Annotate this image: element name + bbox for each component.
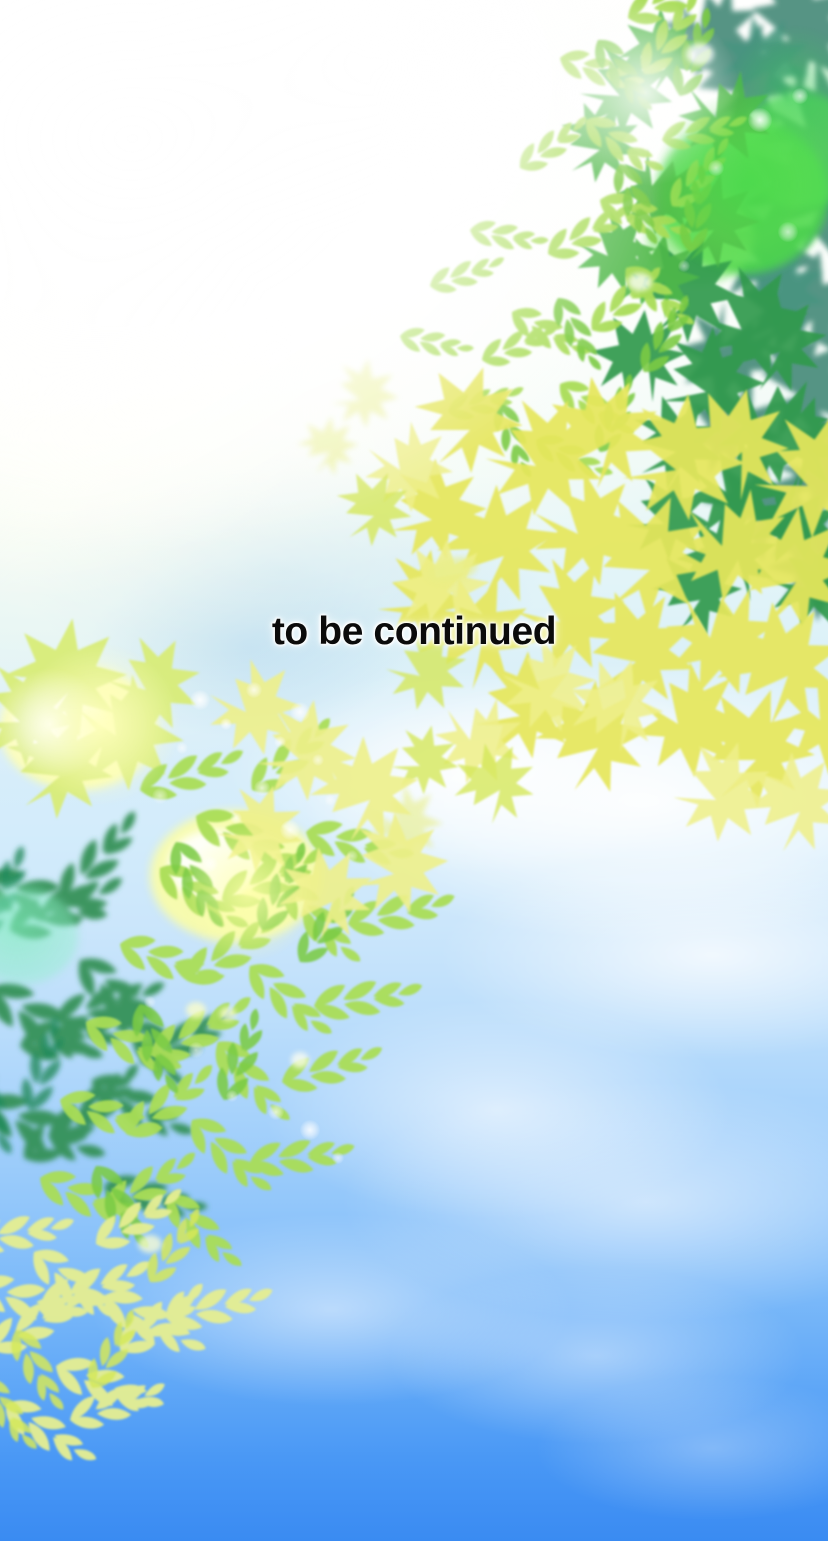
- bottom-left-trailing-branch: [0, 1180, 277, 1477]
- to-be-continued-caption: to be continued: [0, 610, 828, 654]
- foliage-illustration: [0, 0, 828, 1541]
- scene-canvas: to be continued: [0, 0, 828, 1541]
